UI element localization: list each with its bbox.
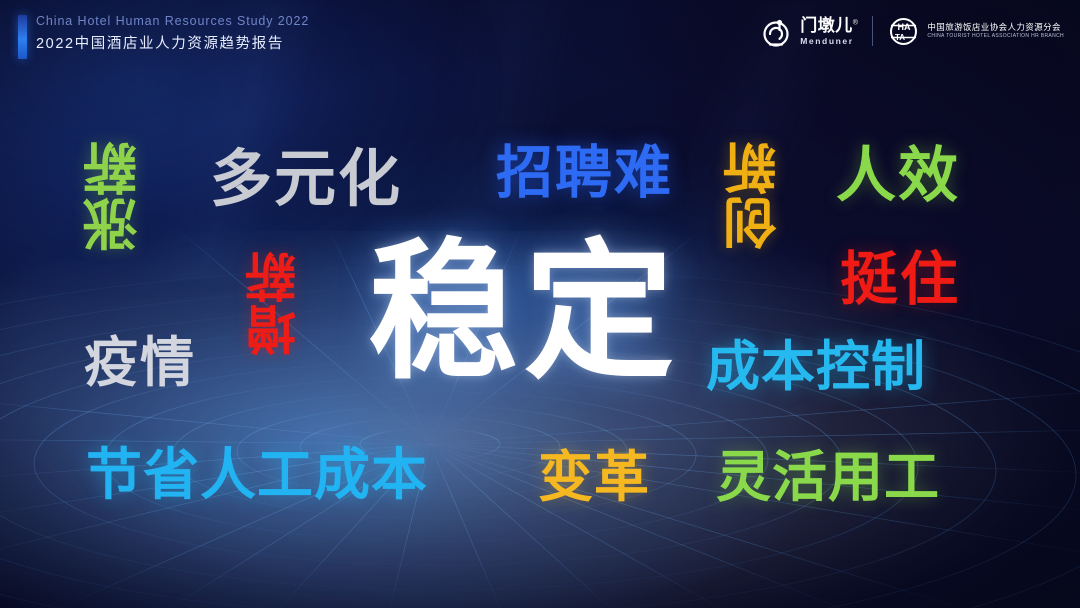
menduner-name-cn: 门墩儿®: [800, 17, 858, 34]
logo-cth-hr-branch: HA TA 中国旅游饭店业协会人力资源分会 CHINA TOURIST HOTE…: [887, 15, 1064, 48]
menduner-logo-text: 门墩儿® Menduner: [800, 17, 858, 46]
word-tingzhu: 挺住: [840, 250, 960, 308]
header-title-block: China Hotel Human Resources Study 2022 2…: [36, 12, 309, 55]
header-title-en: China Hotel Human Resources Study 2022: [36, 12, 309, 30]
cth-name-cn: 中国旅游饭店业协会人力资源分会: [927, 23, 1064, 32]
cth-association-text: 中国旅游饭店业协会人力资源分会 CHINA TOURIST HOTEL ASSO…: [927, 23, 1064, 40]
word-linghuoyonggong: 灵活用工: [716, 450, 940, 505]
word-jieshengrengongchengben: 节省人工成本: [86, 448, 428, 504]
word-chengbenkongzhi: 成本控制: [706, 340, 926, 394]
menduner-name-en: Menduner: [800, 37, 858, 46]
word-zhaopinnan: 招聘难: [496, 145, 673, 202]
word-yiqing: 疫情: [84, 336, 196, 390]
logo-divider: [872, 16, 873, 46]
header-accent-bar: [18, 15, 27, 59]
word-chuangxin: 创新: [728, 140, 782, 250]
word-zengxin: 增薪: [250, 250, 302, 356]
word-renxiao: 人效: [836, 146, 960, 206]
word-biange: 变革: [538, 450, 650, 505]
registered-mark: ®: [853, 19, 859, 26]
word-wending-primary: 稳定: [368, 238, 680, 388]
svg-text:TA: TA: [895, 33, 905, 42]
slide-header: China Hotel Human Resources Study 2022 2…: [0, 0, 1080, 72]
header-title-cn: 2022中国酒店业人力资源趋势报告: [36, 33, 309, 55]
cth-association-logo-icon: HA TA: [887, 15, 920, 48]
svg-text:HA: HA: [898, 22, 911, 32]
word-zhangxin: 涨薪: [88, 140, 143, 252]
logo-menduner: 门墩儿® Menduner: [759, 14, 858, 48]
slide-canvas: China Hotel Human Resources Study 2022 2…: [0, 0, 1080, 608]
cth-name-en: CHINA TOURIST HOTEL ASSOCIATION HR BRANC…: [927, 34, 1064, 39]
menduner-logo-icon: [759, 14, 793, 48]
logo-group: 门墩儿® Menduner HA TA 中国旅游饭店业协会人力资源分会: [759, 14, 1064, 48]
word-duoyuanhua: 多元化: [210, 148, 402, 210]
word-cloud: 多元化 招聘难 涨薪 创新 人效 挺住 增薪 疫情 成本控制 稳定 节省人工成本…: [0, 0, 1080, 608]
